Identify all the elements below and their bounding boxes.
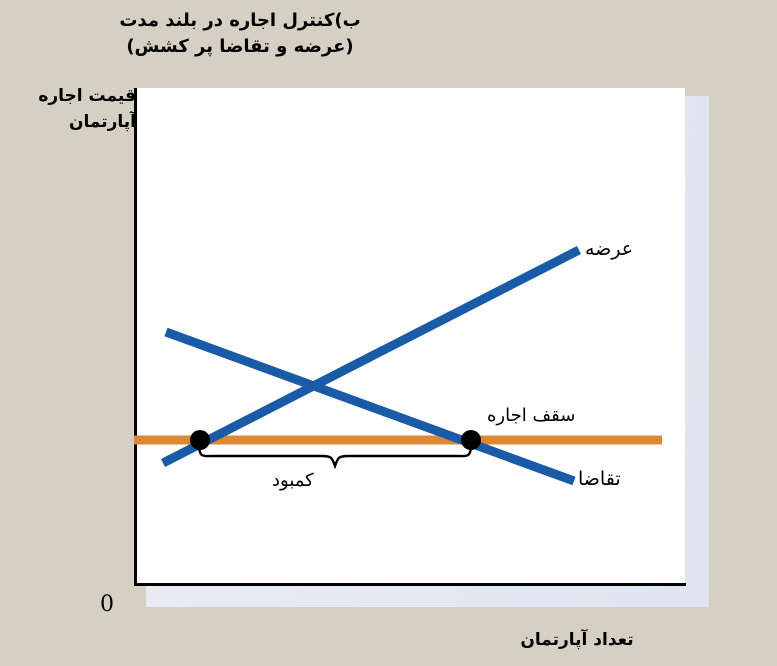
supply-curve-label: عرضه xyxy=(585,238,633,260)
figure-canvas: ب)کنترل اجاره در بلند مدت (عرضه و تقاضا … xyxy=(0,0,777,666)
origin-label: 0 xyxy=(100,592,114,617)
demand-curve-label: تقاضا xyxy=(578,468,621,490)
quantity-supplied-point xyxy=(190,430,210,450)
rent-ceiling-label: سقف اجاره xyxy=(487,405,575,426)
quantity-demanded-point xyxy=(461,430,481,450)
x-axis-label: تعداد آپارتمان xyxy=(487,628,667,654)
shortage-brace xyxy=(199,444,471,466)
shortage-label: کمبود xyxy=(272,470,314,491)
chart-graphics xyxy=(0,0,777,666)
